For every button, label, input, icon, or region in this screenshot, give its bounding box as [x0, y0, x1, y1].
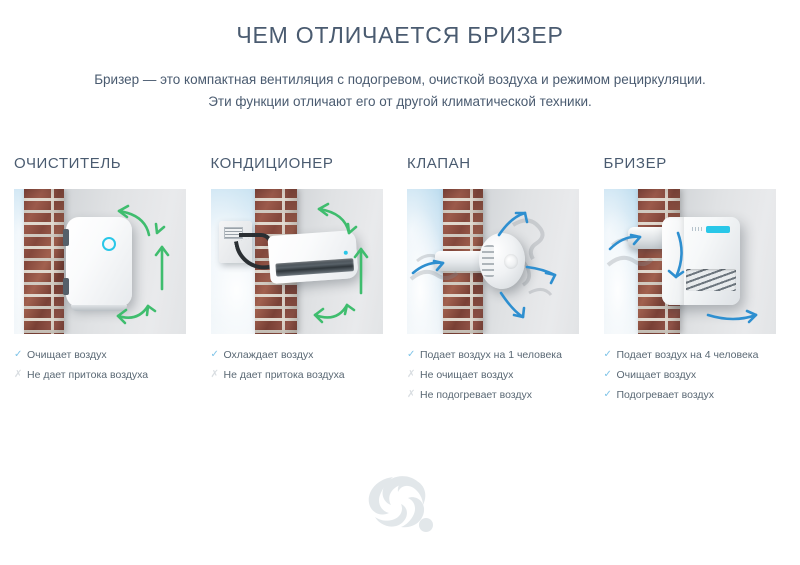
feature-item: ✓ Подает воздух на 1 человека: [407, 345, 604, 365]
comparison-columns: ОЧИСТИТЕЛЬ: [14, 155, 800, 405]
column-title: КЛАПАН: [407, 155, 604, 175]
cross-icon: ✗: [211, 365, 224, 385]
feature-list: ✓ Охлаждает воздух ✗ Не дает притока воз…: [211, 345, 408, 385]
feature-label: Не очищает воздух: [420, 365, 513, 385]
page-subtitle: Бризер — это компактная вентиляция с под…: [30, 49, 770, 113]
column-breezer: БРИЗЕР: [604, 155, 800, 405]
feature-label: Не дает притока воздуха: [27, 365, 148, 385]
intake-arrows: [604, 189, 776, 334]
feature-label: Очищает воздух: [617, 365, 697, 385]
feature-item: ✓ Очищает воздух: [604, 365, 800, 385]
page-title: ЧЕМ ОТЛИЧАЕТСЯ БРИЗЕР: [0, 0, 800, 49]
column-title: ОЧИСТИТЕЛЬ: [14, 155, 211, 175]
recirculation-arrows: [14, 189, 186, 334]
air-conditioner-illustration: [211, 189, 383, 334]
check-icon: ✓: [407, 345, 420, 365]
feature-label: Подает воздух на 4 человека: [617, 345, 759, 365]
column-title: БРИЗЕР: [604, 155, 800, 175]
feature-label: Не подогревает воздух: [420, 385, 532, 405]
check-icon: ✓: [14, 345, 27, 365]
check-icon: ✓: [604, 365, 617, 385]
column-wall-valve: КЛАПАН: [407, 155, 604, 405]
feature-item: ✗ Не подогревает воздух: [407, 385, 604, 405]
feature-label: Очищает воздух: [27, 345, 107, 365]
wall-valve-illustration: [407, 189, 579, 334]
column-title: КОНДИЦИОНЕР: [211, 155, 408, 175]
cross-icon: ✗: [407, 365, 420, 385]
feature-list: ✓ Подает воздух на 1 человека ✗ Не очища…: [407, 345, 604, 405]
column-air-conditioner: КОНДИЦИОНЕР: [211, 155, 408, 405]
feature-list: ✓ Очищает воздух ✗ Не дает притока возду…: [14, 345, 211, 385]
feature-item: ✗ Не дает притока воздуха: [14, 365, 211, 385]
recirculation-arrows: [211, 189, 383, 334]
check-icon: ✓: [604, 345, 617, 365]
subtitle-line-1: Бризер — это компактная вентиляция с под…: [30, 69, 770, 91]
check-icon: ✓: [211, 345, 224, 365]
feature-label: Подогревает воздух: [617, 385, 715, 405]
intake-arrows: [407, 189, 579, 334]
feature-label: Не дает притока воздуха: [224, 365, 345, 385]
feature-item: ✓ Подогревает воздух: [604, 385, 800, 405]
feature-label: Подает воздух на 1 человека: [420, 345, 562, 365]
feature-item: ✓ Подает воздух на 4 человека: [604, 345, 800, 365]
tion-pinwheel-logo: [363, 473, 437, 535]
cross-icon: ✗: [14, 365, 27, 385]
feature-item: ✗ Не дает притока воздуха: [211, 365, 408, 385]
comparison-page: ЧЕМ ОТЛИЧАЕТСЯ БРИЗЕР Бризер — это компа…: [0, 0, 800, 565]
subtitle-line-2: Эти функции отличают его от другой клима…: [30, 91, 770, 113]
feature-item: ✓ Очищает воздух: [14, 345, 211, 365]
cross-icon: ✗: [407, 385, 420, 405]
feature-item: ✓ Охлаждает воздух: [211, 345, 408, 365]
column-air-purifier: ОЧИСТИТЕЛЬ: [14, 155, 211, 405]
feature-label: Охлаждает воздух: [224, 345, 314, 365]
feature-item: ✗ Не очищает воздух: [407, 365, 604, 385]
check-icon: ✓: [604, 385, 617, 405]
air-purifier-illustration: [14, 189, 186, 334]
feature-list: ✓ Подает воздух на 4 человека ✓ Очищает …: [604, 345, 800, 405]
breezer-illustration: [604, 189, 776, 334]
